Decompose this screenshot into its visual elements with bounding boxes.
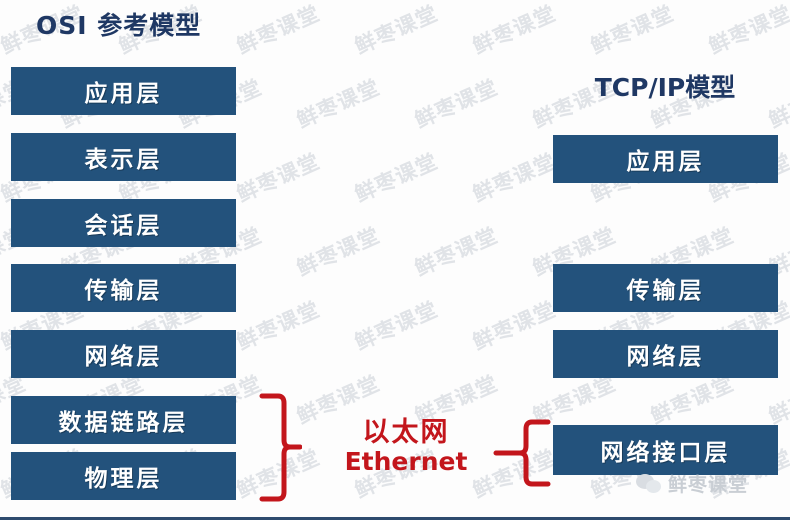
watermark-text: 鲜枣课堂 — [350, 145, 443, 208]
osi-layer-2[interactable]: 表示层 — [11, 133, 236, 181]
tcpip-layer-1[interactable]: 应用层 — [553, 135, 778, 183]
osi-model-title: OSI 参考模型 — [36, 6, 201, 42]
watermark-text: 鲜枣课堂 — [350, 293, 443, 356]
watermark-text: 鲜枣课堂 — [292, 219, 385, 282]
watermark-text: 鲜枣课堂 — [586, 0, 679, 61]
osi-layer-6[interactable]: 数据链路层 — [11, 396, 236, 444]
osi-layer-3[interactable]: 会话层 — [11, 199, 236, 247]
watermark-text: 鲜枣课堂 — [468, 145, 561, 208]
ethernet-label-en: Ethernet — [318, 448, 494, 476]
osi-layer-1[interactable]: 应用层 — [11, 67, 236, 115]
osi-tcpip-diagram: 鲜枣课堂鲜枣课堂鲜枣课堂鲜枣课堂鲜枣课堂鲜枣课堂鲜枣课堂鲜枣课堂鲜枣课堂鲜枣课堂… — [0, 0, 790, 520]
watermark-text: 鲜枣课堂 — [410, 71, 503, 134]
watermark-text: 鲜枣课堂 — [232, 0, 325, 61]
left-brace-icon — [256, 392, 302, 504]
watermark-text: 鲜枣课堂 — [704, 0, 790, 61]
osi-layer-7[interactable]: 物理层 — [11, 452, 236, 500]
watermark-text: 鲜枣课堂 — [350, 0, 443, 61]
watermark-text: 鲜枣课堂 — [232, 145, 325, 208]
wechat-icon — [636, 474, 662, 494]
watermark-text: 鲜枣课堂 — [410, 219, 503, 282]
watermark-text: 鲜枣课堂 — [468, 0, 561, 61]
ethernet-annotation: 以太网 Ethernet — [318, 418, 494, 476]
osi-layer-5[interactable]: 网络层 — [11, 330, 236, 378]
watermark-text: 鲜枣课堂 — [232, 293, 325, 356]
brand-name: 鲜枣课堂 — [668, 470, 748, 497]
osi-layer-4[interactable]: 传输层 — [11, 264, 236, 312]
ethernet-label-cn: 以太网 — [318, 418, 494, 448]
watermark-text: 鲜枣课堂 — [292, 71, 385, 134]
brand-logo: 鲜枣课堂 — [636, 470, 748, 497]
tcpip-layer-4[interactable]: 网络接口层 — [553, 425, 778, 475]
right-brace-icon — [492, 418, 554, 488]
watermark-text: 鲜枣课堂 — [468, 293, 561, 356]
tcpip-layer-2[interactable]: 传输层 — [553, 264, 778, 312]
tcpip-model-title: TCP/IP模型 — [553, 68, 777, 104]
tcpip-layer-3[interactable]: 网络层 — [553, 330, 778, 378]
